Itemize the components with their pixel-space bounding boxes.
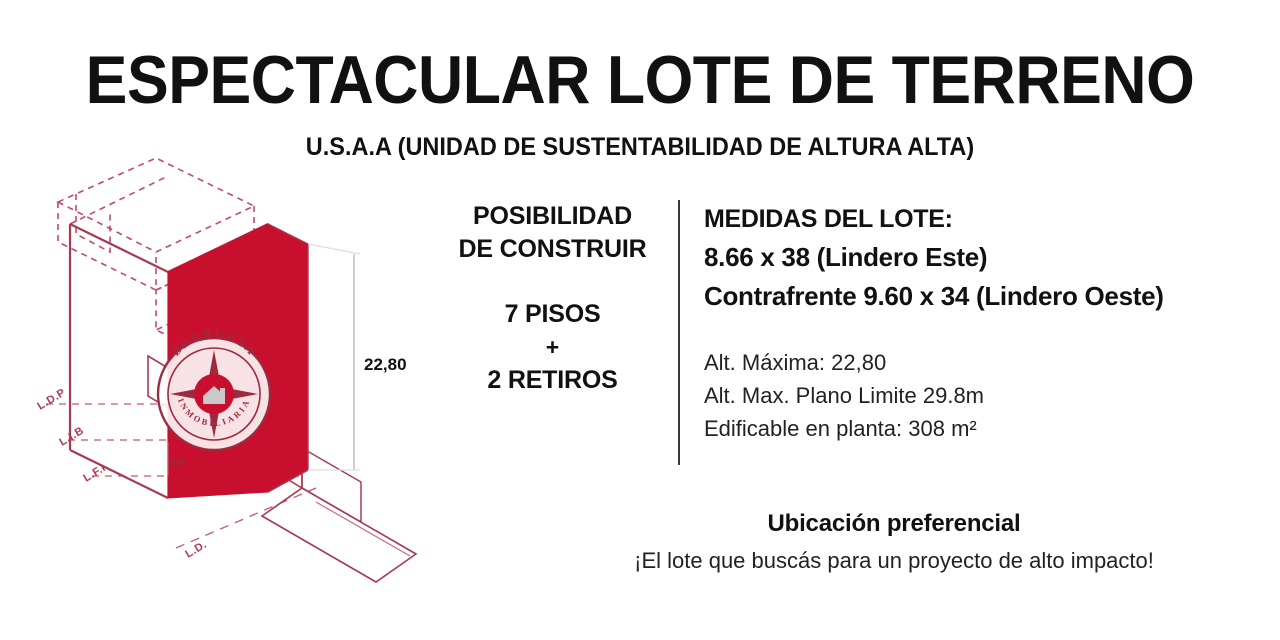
edge-label-ldp: L.D.P [35, 387, 67, 413]
specs-measure-front: 8.66 x 38 (Lindero Este) [704, 238, 1260, 277]
specs-heading: MEDIDAS DEL LOTE: [704, 200, 1260, 238]
possibility-floors: 7 PISOS [445, 296, 660, 332]
base-dimension-label: 8.66 [171, 459, 187, 468]
isometric-lot-diagram: 22,80 8.66 L.D.P L.I.B L.F.I L.D. [16, 158, 446, 608]
possibility-title-line2: DE CONSTRUIR [445, 233, 660, 266]
page-title: ESPECTACULAR LOTE DE TERRENO [51, 44, 1229, 116]
height-dimension: 22,80 [308, 244, 407, 470]
specs-detail-max-height: Alt. Máxima: 22,80 [704, 346, 1260, 379]
possibility-plus-sign: + [445, 332, 660, 362]
possibility-setbacks: 2 RETIROS [445, 362, 660, 398]
specs-detail-buildable-area: Edificable en planta: 308 m² [704, 412, 1260, 445]
header: ESPECTACULAR LOTE DE TERRENO U.S.A.A (UN… [0, 44, 1280, 162]
possibility-spacer [445, 266, 660, 296]
tagline-subtitle: ¡El lote que buscás para un proyecto de … [544, 544, 1244, 578]
height-dimension-label: 22,80 [364, 355, 407, 374]
building-volume [70, 176, 308, 498]
tagline-block: Ubicación preferencial ¡El lote que busc… [544, 508, 1244, 578]
possibility-title-line1: POSIBILIDAD [445, 200, 660, 233]
poster-canvas: ESPECTACULAR LOTE DE TERRENO U.S.A.A (UN… [0, 0, 1280, 640]
specs-detail-plane-limit: Alt. Max. Plano Limite 29.8m [704, 379, 1260, 412]
edge-label-ld: L.D. [183, 539, 209, 561]
tagline-title: Ubicación preferencial [544, 508, 1244, 540]
edge-label-lib: L.I.B [57, 425, 86, 449]
possibility-column: POSIBILIDAD DE CONSTRUIR 7 PISOS + 2 RET… [445, 200, 660, 398]
specs-spacer [704, 316, 1260, 346]
edge-label-lfi: L.F.I [81, 462, 108, 485]
specs-measure-back: Contrafrente 9.60 x 34 (Lindero Oeste) [704, 277, 1260, 316]
column-divider [678, 200, 680, 465]
specs-column: MEDIDAS DEL LOTE: 8.66 x 38 (Lindero Est… [704, 200, 1260, 445]
company-logo: BERRUETA INMOBILIARIA [158, 327, 270, 450]
